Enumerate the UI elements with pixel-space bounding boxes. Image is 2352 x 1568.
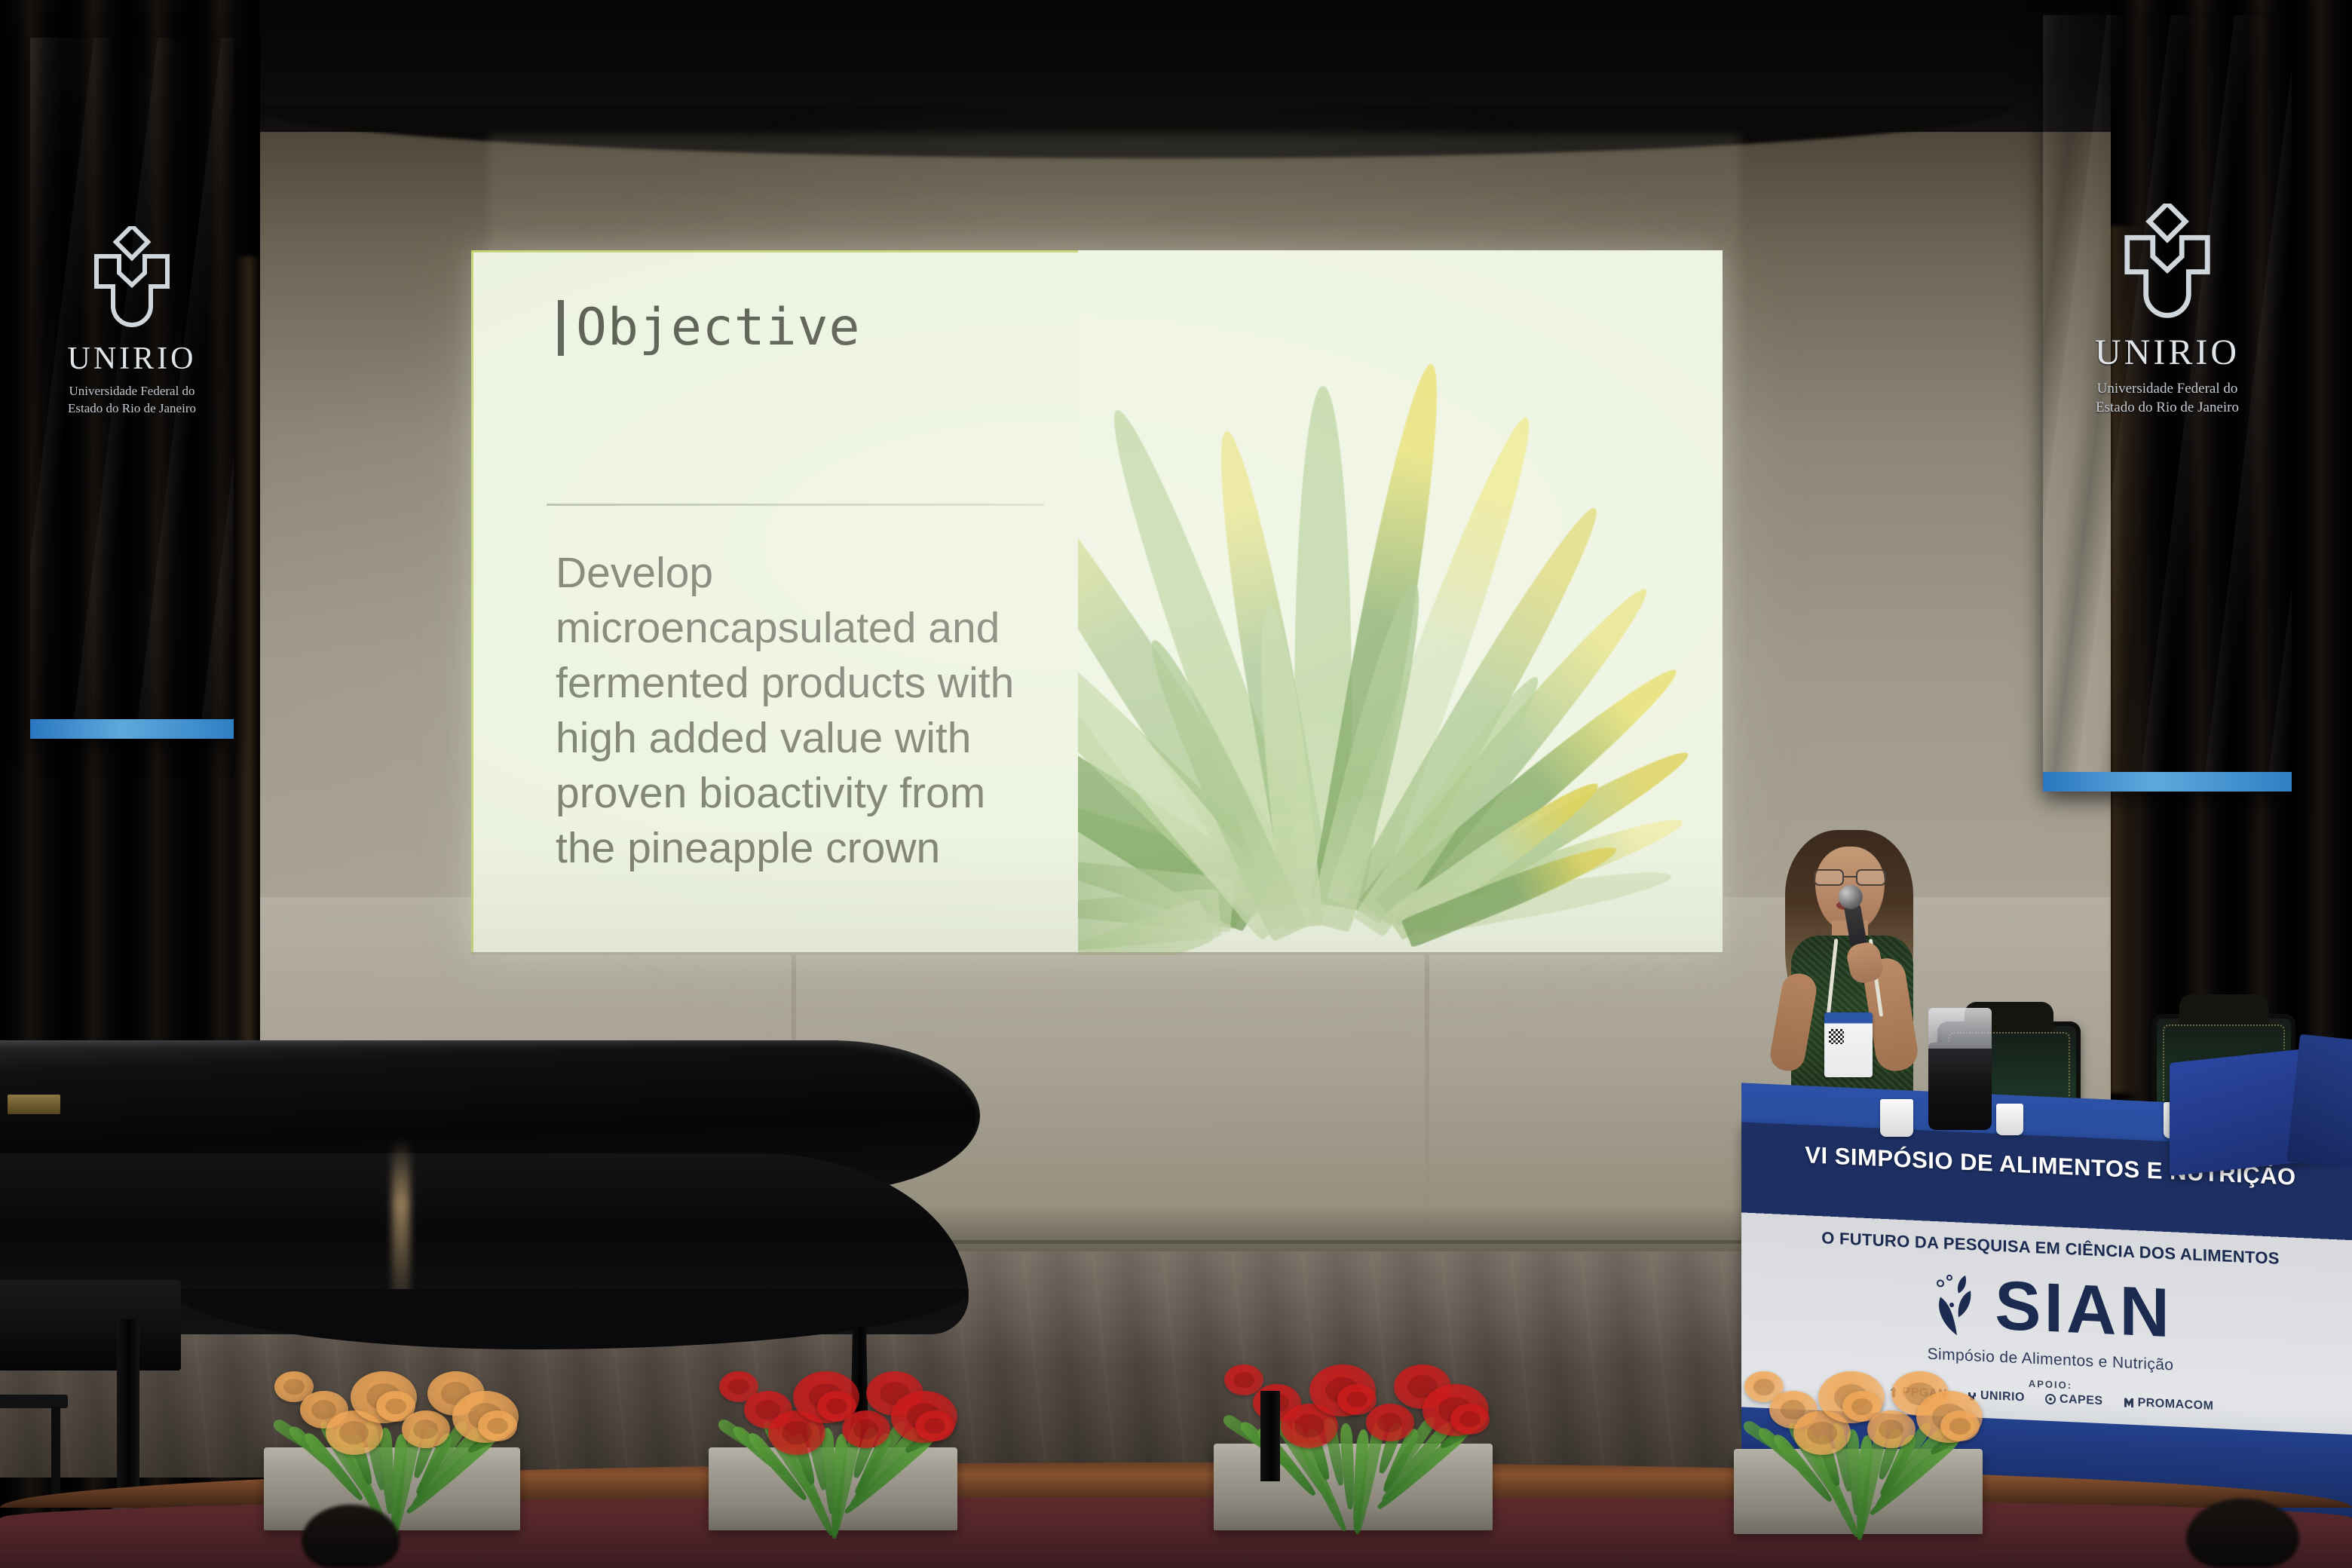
flower-bloom <box>1867 1410 1916 1448</box>
sian-wordmark: SIAN <box>1995 1274 2173 1345</box>
slide-body-line: Develop <box>556 546 1038 601</box>
promacom-mark-icon <box>2123 1396 2135 1409</box>
flower-planter <box>1214 1342 1493 1530</box>
conference-badge <box>1824 1012 1873 1077</box>
unirio-banner-left: UNIRIO Universidade Federal do Estado do… <box>30 38 234 739</box>
thermos-lid <box>1928 1008 1992 1049</box>
slide-title-block: Objective <box>558 300 860 356</box>
paper-cup[interactable] <box>1996 1104 2023 1135</box>
flower-planter <box>264 1349 520 1530</box>
flower-bloom <box>842 1410 890 1448</box>
flower-bloom <box>1366 1404 1414 1441</box>
sponsor-name: PROMACOM <box>2138 1396 2214 1413</box>
paper-cup[interactable] <box>1880 1099 1913 1137</box>
unirio-wordmark: UNIRIO <box>30 341 234 377</box>
glasses-bridge <box>1844 876 1856 877</box>
banner-bottom-bar <box>30 719 234 739</box>
unirio-subtitle: Universidade Federal do Estado do Rio de… <box>30 383 234 418</box>
slide-body-line: microencapsulated and <box>556 601 1038 656</box>
capes-mark-icon <box>2044 1393 2056 1406</box>
unirio-subtitle-line: Estado do Rio de Janeiro <box>30 400 234 418</box>
slide-title: Objective <box>576 302 860 354</box>
sponsor-logo: CAPES <box>2044 1392 2103 1409</box>
presentation-slide: Objective Develop microencapsulated and … <box>471 250 1723 955</box>
slide-text-column: Objective Develop microencapsulated and … <box>471 250 1082 955</box>
sian-sprout-icon <box>1928 1266 1987 1342</box>
flower-bloom <box>915 1410 954 1441</box>
auditorium-scene: Objective Develop microencapsulated and … <box>0 0 2352 1568</box>
microphone-stand-base <box>1260 1391 1280 1481</box>
piano-bottom-curve <box>173 1289 969 1349</box>
unirio-logo-icon <box>83 226 181 329</box>
flower-planter <box>709 1349 957 1530</box>
slide-body-line: the pineapple crown <box>556 821 1038 876</box>
unirio-logo-icon <box>2112 204 2223 320</box>
flower-bloom <box>402 1410 450 1448</box>
piano-brand-plaque <box>8 1095 60 1114</box>
glasses-lens <box>1814 869 1844 886</box>
slide-edge <box>471 952 1723 955</box>
unirio-subtitle: Universidade Federal do Estado do Rio de… <box>2043 379 2292 418</box>
title-accent-bar <box>558 300 564 356</box>
flower-bloom <box>478 1410 517 1441</box>
banner-bottom-bar <box>2043 772 2292 792</box>
banner-content: UNIRIO Universidade Federal do Estado do… <box>30 226 234 418</box>
flower-planter <box>1734 1349 1983 1534</box>
unirio-banner-right: UNIRIO Universidade Federal do Estado do… <box>2043 15 2292 792</box>
slide-body-line: high added value with <box>556 711 1038 766</box>
flower-bloom <box>1450 1404 1490 1435</box>
unirio-wordmark: UNIRIO <box>2043 332 2292 373</box>
badge-qr-code <box>1829 1029 1844 1044</box>
eyeglasses <box>1814 869 1886 886</box>
pineapple-crown-illustration <box>1078 250 1723 955</box>
sponsor-name: CAPES <box>2060 1393 2103 1409</box>
bench-leg <box>51 1407 60 1527</box>
piano-leg <box>117 1319 139 1500</box>
flower-bloom <box>1940 1410 1980 1441</box>
slide-body-line: proven bioactivity from <box>556 766 1038 821</box>
slide-body-text: Develop microencapsulated and fermented … <box>556 546 1038 876</box>
unirio-subtitle-line: Universidade Federal do <box>2043 379 2292 398</box>
piano-keyboard-housing <box>0 1280 181 1370</box>
unirio-subtitle-line: Universidade Federal do <box>30 383 234 400</box>
sponsor-logo: PROMACOM <box>2123 1395 2214 1413</box>
sponsor-name: UNIRIO <box>1980 1389 2025 1405</box>
glasses-lens <box>1856 869 1886 886</box>
water-thermos[interactable] <box>1928 1043 1992 1130</box>
slide-divider-rule <box>547 504 1044 506</box>
unirio-subtitle-line: Estado do Rio de Janeiro <box>2043 398 2292 417</box>
slide-body-line: fermented products with <box>556 656 1038 711</box>
banner-content: UNIRIO Universidade Federal do Estado do… <box>2043 204 2292 418</box>
